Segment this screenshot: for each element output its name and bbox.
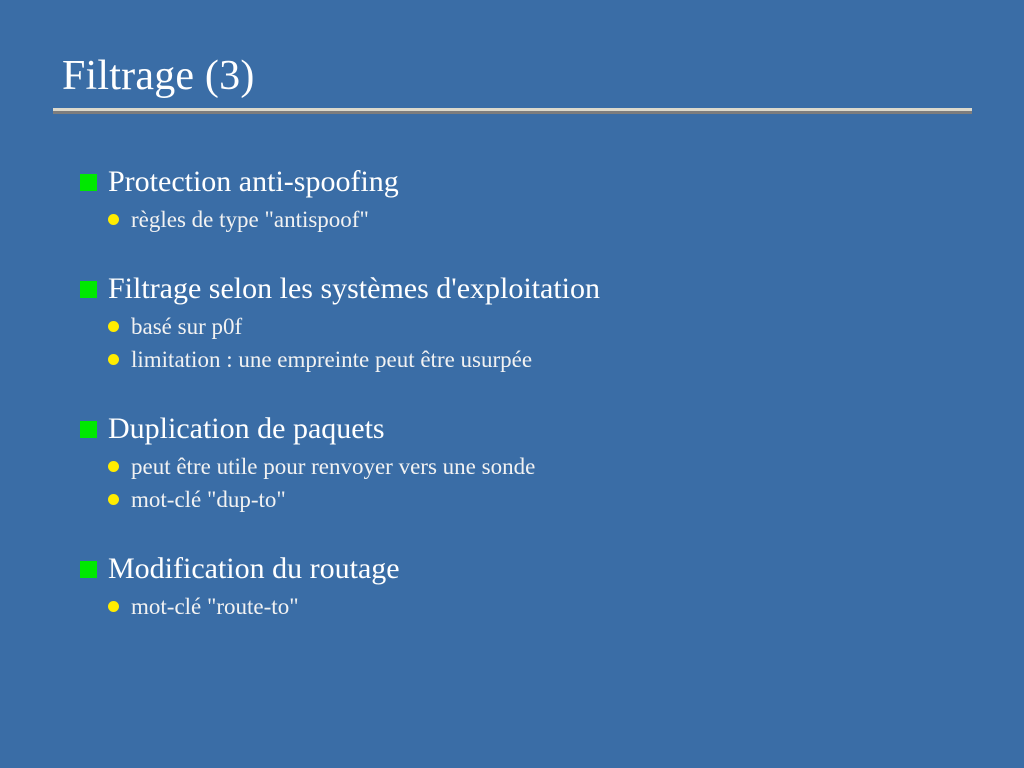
bullet-item-level1: Protection anti-spoofing xyxy=(80,163,980,201)
bullet-item-level2: peut être utile pour renvoyer vers une s… xyxy=(80,450,980,483)
bullet-item-level1: Filtrage selon les systèmes d'exploitati… xyxy=(80,270,980,308)
green-square-bullet-icon xyxy=(80,270,108,308)
bullet-item-level1-label: Duplication de paquets xyxy=(108,410,385,448)
outline-body: Protection anti-spoofing règles de type … xyxy=(80,163,980,623)
bullet-item-level2: règles de type "antispoof" xyxy=(80,203,980,236)
bullet-item-level2-label: limitation : une empreinte peut être usu… xyxy=(131,343,532,376)
outline-group: Filtrage selon les systèmes d'exploitati… xyxy=(80,270,980,376)
green-square-bullet-icon xyxy=(80,163,108,201)
sub-bullet-list: basé sur p0f limitation : une empreinte … xyxy=(80,310,980,376)
bullet-item-level2-label: basé sur p0f xyxy=(131,310,242,343)
bullet-item-level1: Modification du routage xyxy=(80,550,980,588)
outline-group: Protection anti-spoofing règles de type … xyxy=(80,163,980,236)
bullet-item-level1: Duplication de paquets xyxy=(80,410,980,448)
bullet-item-level2: limitation : une empreinte peut être usu… xyxy=(80,343,980,376)
bullet-item-level2-label: mot-clé "route-to" xyxy=(131,590,299,623)
bullet-item-level2: basé sur p0f xyxy=(80,310,980,343)
bullet-item-level2-label: règles de type "antispoof" xyxy=(131,203,369,236)
bullet-item-level2: mot-clé "route-to" xyxy=(80,590,980,623)
yellow-dot-bullet-icon xyxy=(108,590,131,623)
yellow-dot-bullet-icon xyxy=(108,343,131,376)
bullet-item-level1-label: Protection anti-spoofing xyxy=(108,163,399,201)
green-square-bullet-icon xyxy=(80,550,108,588)
bullet-item-level2: mot-clé "dup-to" xyxy=(80,483,980,516)
bullet-item-level1-label: Modification du routage xyxy=(108,550,400,588)
slide: Filtrage (3) Protection anti-spoofing rè… xyxy=(0,0,1024,768)
green-square-bullet-icon xyxy=(80,410,108,448)
title-divider xyxy=(53,108,972,114)
bullet-item-level1-label: Filtrage selon les systèmes d'exploitati… xyxy=(108,270,600,308)
outline-group: Modification du routage mot-clé "route-t… xyxy=(80,550,980,623)
sub-bullet-list: peut être utile pour renvoyer vers une s… xyxy=(80,450,980,516)
page-title: Filtrage (3) xyxy=(53,50,972,102)
title-divider-shadow xyxy=(53,111,972,114)
bullet-item-level2-label: mot-clé "dup-to" xyxy=(131,483,286,516)
yellow-dot-bullet-icon xyxy=(108,483,131,516)
bullet-item-level2-label: peut être utile pour renvoyer vers une s… xyxy=(131,450,535,483)
outline-group: Duplication de paquets peut être utile p… xyxy=(80,410,980,516)
title-block: Filtrage (3) xyxy=(53,50,972,102)
yellow-dot-bullet-icon xyxy=(108,450,131,483)
yellow-dot-bullet-icon xyxy=(108,203,131,236)
sub-bullet-list: règles de type "antispoof" xyxy=(80,203,980,236)
yellow-dot-bullet-icon xyxy=(108,310,131,343)
sub-bullet-list: mot-clé "route-to" xyxy=(80,590,980,623)
